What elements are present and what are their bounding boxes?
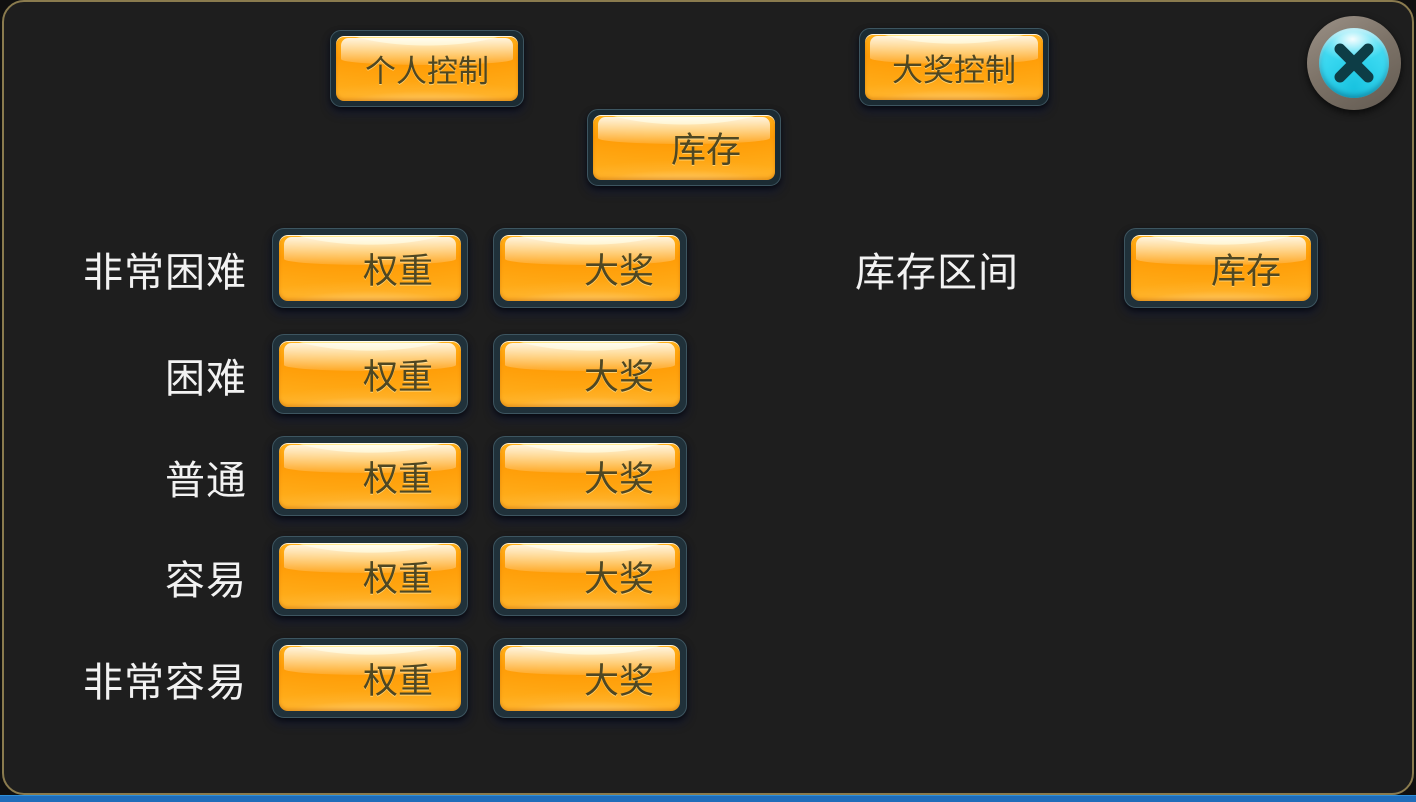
- tab-inventory[interactable]: 库存: [587, 109, 781, 186]
- prize-button-hard[interactable]: 大奖: [493, 334, 687, 414]
- prize-button-easy-face: 大奖: [500, 543, 680, 609]
- row-label-very-easy: 非常容易: [4, 650, 247, 708]
- inventory-range-label: 库存区间: [855, 240, 1019, 298]
- row-label-easy: 容易: [4, 548, 247, 606]
- weight-button-very-easy-label: 权重: [363, 653, 433, 704]
- tab-jackpot-control-label: 大奖控制: [892, 45, 1016, 90]
- prize-button-very-easy[interactable]: 大奖: [493, 638, 687, 718]
- prize-button-very-hard-face: 大奖: [500, 235, 680, 301]
- prize-button-easy[interactable]: 大奖: [493, 536, 687, 616]
- weight-button-hard[interactable]: 权重: [272, 334, 468, 414]
- weight-button-very-hard-face: 权重: [279, 235, 461, 301]
- prize-button-hard-face: 大奖: [500, 341, 680, 407]
- prize-button-normal[interactable]: 大奖: [493, 436, 687, 516]
- weight-button-easy[interactable]: 权重: [272, 536, 468, 616]
- tab-personal-control[interactable]: 个人控制: [330, 30, 524, 107]
- prize-button-easy-label: 大奖: [584, 551, 654, 602]
- prize-button-normal-label: 大奖: [584, 451, 654, 502]
- row-label-hard: 困难: [4, 346, 247, 404]
- close-button-inner: [1319, 28, 1389, 98]
- tab-personal-control-face: 个人控制: [336, 36, 518, 101]
- weight-button-normal[interactable]: 权重: [272, 436, 468, 516]
- weight-button-hard-label: 权重: [363, 349, 433, 400]
- tab-inventory-face: 库存: [593, 115, 775, 180]
- prize-button-normal-face: 大奖: [500, 443, 680, 509]
- settings-panel: 个人控制 大奖控制 库存 非常困难 权重 大奖: [2, 0, 1414, 795]
- prize-button-very-easy-face: 大奖: [500, 645, 680, 711]
- inventory-range-button-face: 库存: [1131, 235, 1311, 301]
- close-button[interactable]: [1307, 16, 1401, 110]
- tab-jackpot-control-face: 大奖控制: [865, 34, 1043, 100]
- close-x-icon: [1328, 37, 1380, 89]
- weight-button-very-hard-label: 权重: [363, 243, 433, 294]
- bottom-status-strip: [0, 795, 1416, 802]
- row-label-normal: 普通: [4, 448, 247, 506]
- tab-jackpot-control[interactable]: 大奖控制: [859, 28, 1049, 106]
- prize-button-very-hard[interactable]: 大奖: [493, 228, 687, 308]
- weight-button-normal-label: 权重: [363, 451, 433, 502]
- tab-personal-control-label: 个人控制: [365, 46, 489, 91]
- prize-button-very-hard-label: 大奖: [584, 243, 654, 294]
- prize-button-very-easy-label: 大奖: [584, 653, 654, 704]
- row-label-very-hard: 非常困难: [4, 240, 247, 298]
- weight-button-very-hard[interactable]: 权重: [272, 228, 468, 308]
- weight-button-easy-face: 权重: [279, 543, 461, 609]
- weight-button-normal-face: 权重: [279, 443, 461, 509]
- inventory-range-button[interactable]: 库存: [1124, 228, 1318, 308]
- inventory-range-button-label: 库存: [1211, 243, 1281, 294]
- prize-button-hard-label: 大奖: [584, 349, 654, 400]
- weight-button-hard-face: 权重: [279, 341, 461, 407]
- tab-inventory-label: 库存: [671, 122, 741, 173]
- weight-button-very-easy[interactable]: 权重: [272, 638, 468, 718]
- weight-button-very-easy-face: 权重: [279, 645, 461, 711]
- weight-button-easy-label: 权重: [363, 551, 433, 602]
